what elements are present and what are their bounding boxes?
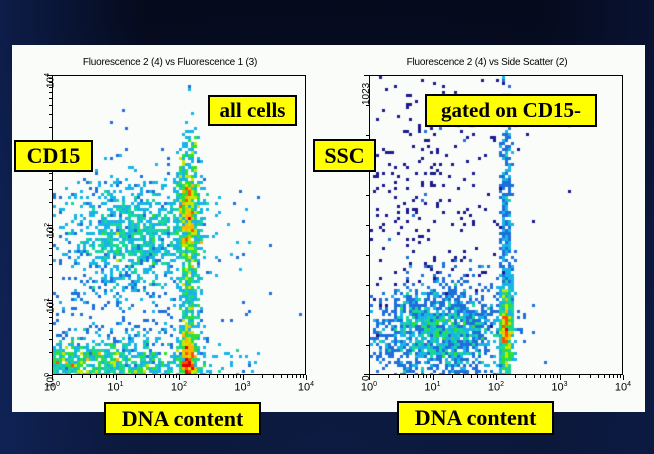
y-tick-minor xyxy=(366,255,369,256)
x-tick-major xyxy=(496,375,497,380)
x-tick-minor xyxy=(399,375,400,378)
x-tick-minor xyxy=(173,375,174,378)
y-tick-minor xyxy=(366,135,369,136)
x-tick-label: 103 xyxy=(551,381,567,394)
y-tick-label: 1023 xyxy=(361,83,372,105)
x-tick-minor xyxy=(579,375,580,378)
x-tick-minor xyxy=(515,375,516,378)
x-tick-minor xyxy=(292,375,293,378)
y-tick-minor xyxy=(49,312,52,313)
x-tick-minor xyxy=(557,375,558,378)
y-tick-minor xyxy=(49,307,52,308)
x-tick-minor xyxy=(101,375,102,378)
x-tick-major xyxy=(116,375,117,380)
y-tick-minor xyxy=(366,225,369,226)
x-tick-minor xyxy=(407,375,408,378)
x-tick-minor xyxy=(482,375,483,378)
y-tick-minor xyxy=(49,323,52,324)
x-tick-minor xyxy=(477,375,478,378)
x-tick-minor xyxy=(609,375,610,378)
x-tick-minor xyxy=(262,375,263,378)
x-tick-minor xyxy=(176,375,177,378)
x-tick-minor xyxy=(526,375,527,378)
x-tick-minor xyxy=(550,375,551,378)
callout-cd15-axis-label: CD15 xyxy=(14,140,93,172)
slide-canvas: Fluorescence 2 (4) vs Fluorescence 1 (3)… xyxy=(0,0,654,454)
x-tick-major xyxy=(623,375,624,380)
x-tick-label: 104 xyxy=(298,381,314,394)
y-tick-minor xyxy=(49,78,52,79)
x-tick-minor xyxy=(613,375,614,378)
y-tick-minor xyxy=(49,248,52,249)
x-tick-label: 102 xyxy=(488,381,504,394)
x-tick-minor xyxy=(463,375,464,378)
x-tick-minor xyxy=(553,375,554,378)
x-tick-minor xyxy=(240,375,241,378)
y-tick-minor xyxy=(49,98,52,99)
x-tick-minor xyxy=(300,375,301,378)
y-tick-major xyxy=(364,75,369,76)
x-tick-minor xyxy=(273,375,274,378)
callout-dna-content-right: DNA content xyxy=(397,401,554,435)
x-tick-minor xyxy=(617,375,618,378)
y-tick-minor xyxy=(49,92,52,93)
x-tick-minor xyxy=(169,375,170,378)
x-tick-label: 102 xyxy=(171,381,187,394)
y-tick-minor xyxy=(49,232,52,233)
x-tick-minor xyxy=(620,375,621,378)
y-tick-minor xyxy=(49,339,52,340)
y-tick-minor xyxy=(366,195,369,196)
y-tick-minor xyxy=(366,345,369,346)
x-tick-minor xyxy=(287,375,288,378)
y-tick-minor xyxy=(49,189,52,190)
y-tick-minor xyxy=(49,228,52,229)
x-tick-minor xyxy=(413,375,414,378)
y-tick-minor xyxy=(49,180,52,181)
x-tick-minor xyxy=(228,375,229,378)
y-tick-minor xyxy=(49,82,52,83)
y-tick-minor xyxy=(49,105,52,106)
x-tick-minor xyxy=(452,375,453,378)
callout-ssc-axis-label: SSC xyxy=(313,139,376,172)
x-tick-label: 103 xyxy=(234,381,250,394)
y-tick-label: 0 xyxy=(361,375,372,381)
x-tick-minor xyxy=(490,375,491,378)
y-tick-minor xyxy=(49,202,52,203)
x-tick-minor xyxy=(96,375,97,378)
x-tick-minor xyxy=(217,375,218,378)
y-tick-minor xyxy=(49,237,52,238)
x-tick-minor xyxy=(540,375,541,378)
x-tick-major xyxy=(433,375,434,380)
x-tick-minor xyxy=(154,375,155,378)
x-tick-major xyxy=(179,375,180,380)
x-tick-minor xyxy=(423,375,424,378)
y-tick-minor xyxy=(49,277,52,278)
x-tick-minor xyxy=(82,375,83,378)
x-tick-minor xyxy=(165,375,166,378)
y-tick-minor xyxy=(366,105,369,106)
x-tick-minor xyxy=(146,375,147,378)
y-tick-minor xyxy=(366,285,369,286)
x-tick-minor xyxy=(486,375,487,378)
x-tick-minor xyxy=(90,375,91,378)
x-tick-minor xyxy=(534,375,535,378)
x-tick-label: 101 xyxy=(107,381,123,394)
x-tick-major xyxy=(243,375,244,380)
y-tick-minor xyxy=(49,87,52,88)
x-tick-minor xyxy=(296,375,297,378)
y-tick-minor xyxy=(49,303,52,304)
y-tick-minor xyxy=(49,173,52,174)
y-tick-minor xyxy=(49,317,52,318)
x-tick-minor xyxy=(71,375,72,378)
plot-right-title: Fluorescence 2 (4) vs Side Scatter (2) xyxy=(329,57,645,68)
x-tick-minor xyxy=(109,375,110,378)
x-tick-minor xyxy=(106,375,107,378)
x-tick-label: 100 xyxy=(361,381,377,394)
x-tick-minor xyxy=(426,375,427,378)
x-tick-minor xyxy=(493,375,494,378)
x-tick-label: 104 xyxy=(615,381,631,394)
callout-all-cells: all cells xyxy=(208,95,297,126)
callout-gated-on-cd15: gated on CD15- xyxy=(425,94,597,127)
x-tick-major xyxy=(306,375,307,380)
y-tick-minor xyxy=(49,114,52,115)
x-tick-minor xyxy=(545,375,546,378)
x-tick-minor xyxy=(113,375,114,378)
x-tick-minor xyxy=(209,375,210,378)
plot-left-title: Fluorescence 2 (4) vs Fluorescence 1 (3) xyxy=(12,57,328,68)
x-tick-minor xyxy=(160,375,161,378)
x-tick-minor xyxy=(281,375,282,378)
y-tick-minor xyxy=(49,255,52,256)
y-tick-minor xyxy=(49,127,52,128)
y-tick-minor xyxy=(49,330,52,331)
x-tick-minor xyxy=(198,375,199,378)
y-tick-label: 100 xyxy=(44,373,56,388)
x-tick-minor xyxy=(604,375,605,378)
x-tick-label: 101 xyxy=(424,381,440,394)
x-tick-minor xyxy=(471,375,472,378)
x-tick-minor xyxy=(598,375,599,378)
x-tick-major xyxy=(560,375,561,380)
x-tick-minor xyxy=(418,375,419,378)
x-tick-minor xyxy=(233,375,234,378)
x-tick-minor xyxy=(135,375,136,378)
y-tick-minor xyxy=(49,264,52,265)
callout-dna-content-left: DNA content xyxy=(104,402,261,435)
x-tick-minor xyxy=(388,375,389,378)
x-tick-minor xyxy=(430,375,431,378)
x-tick-minor xyxy=(236,375,237,378)
x-tick-minor xyxy=(590,375,591,378)
y-tick-minor xyxy=(49,242,52,243)
y-tick-minor xyxy=(49,352,52,353)
x-tick-minor xyxy=(223,375,224,378)
y-tick-minor xyxy=(366,315,369,316)
x-tick-minor xyxy=(303,375,304,378)
